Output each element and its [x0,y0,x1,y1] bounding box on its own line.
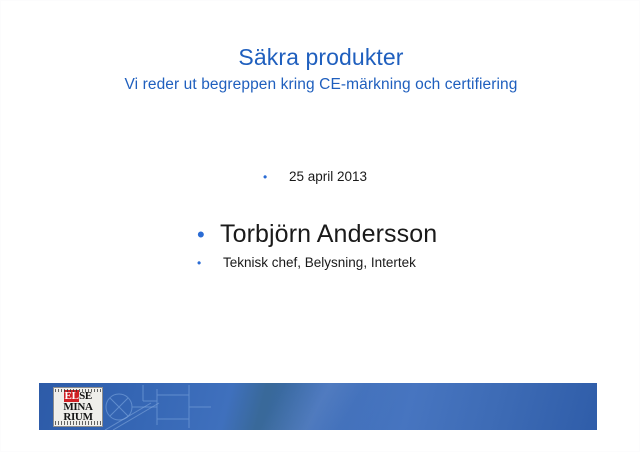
slide-body-bullet-list: • 25 april 2013 • Torbjörn Andersson • T… [1,169,640,270]
bullet-dot-icon: • [263,171,289,183]
bullet-dot-icon: • [197,257,223,269]
list-item-label-presenter: Torbjörn Andersson [220,220,437,249]
page-title: Säkra produkter [1,43,640,71]
footer-banner: ELSE MINA RIUM [39,383,597,430]
list-item: • Teknisk chef, Belysning, Intertek [1,255,640,270]
list-item: • 25 april 2013 [1,169,640,184]
bullet-dot-icon: • [197,224,220,246]
elseminarium-logo: ELSE MINA RIUM [53,387,103,427]
list-item-label-date: 25 april 2013 [289,169,367,184]
logo-tick-border-bottom [55,421,101,425]
list-item-label-role: Teknisk chef, Belysning, Intertek [223,255,416,270]
page-subtitle: Vi reder ut begreppen kring CE-märkning … [1,74,640,96]
list-item: • Torbjörn Andersson [1,220,640,249]
blueprint-line-art-icon [39,383,597,430]
slide-title-block: Säkra produkter Vi reder ut begreppen kr… [1,43,640,96]
presentation-slide: Säkra produkter Vi reder ut begreppen kr… [0,0,640,452]
logo-tick-border-top [55,389,101,392]
